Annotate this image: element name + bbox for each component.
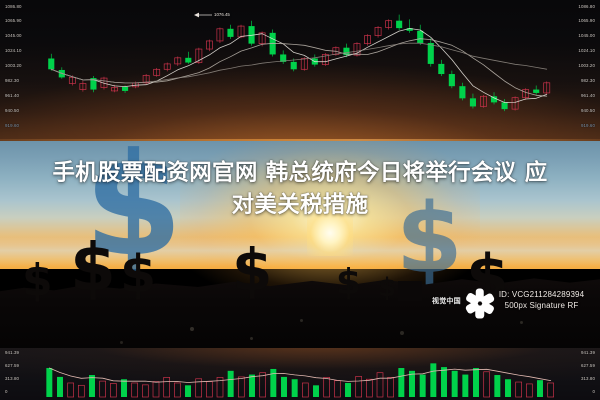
headline-line-1: 手机股票配资网官网 韩总统府今日将举行会议 应 [14, 158, 586, 190]
axis-label-left-0: 1086.80 [5, 4, 22, 9]
watermark-brand-label: 视觉中国 [432, 296, 461, 306]
watermark-text: ID: VCG211284289394 500px Signature RF [499, 290, 584, 311]
axis-label-right-0: 1086.80 [578, 4, 595, 9]
axis-label-left-6: 961.40 [5, 93, 19, 98]
axis-label-right-1: 1065.90 [578, 18, 595, 23]
candlestick-plot [0, 0, 600, 141]
volume-chart: 941.39 627.59 313.80 0 941.39 627.59 313… [0, 348, 600, 400]
vol-axis-label-left-1: 627.59 [5, 363, 19, 368]
vol-axis-label-right-3: 0 [592, 389, 595, 394]
vcg-starburst-icon [465, 286, 495, 316]
headline: 手机股票配资网官网 韩总统府今日将举行会议 应 对美关税措施 [0, 158, 600, 222]
briefcase-silhouette [398, 281, 422, 301]
vol-axis-label-right-0: 941.39 [581, 350, 595, 355]
bokeh-5 [120, 341, 123, 344]
dollar-sign-icon-3: $ [120, 249, 156, 301]
axis-label-left-2: 1045.00 [5, 33, 22, 38]
axis-label-right-6: 961.40 [581, 93, 595, 98]
axis-label-right-3: 1024.10 [578, 48, 595, 53]
dollar-sign-icon-4: $ [232, 241, 272, 299]
axis-label-right-7: 940.50 [581, 108, 595, 113]
axis-label-left-3: 1024.10 [5, 48, 22, 53]
bokeh-2 [250, 337, 253, 340]
price-annotation: 1076.45 [214, 12, 230, 17]
headline-line-2: 对美关税措施 [14, 190, 586, 222]
dollar-sign-icon-2: $ [70, 235, 116, 301]
axis-label-right-2: 1045.00 [578, 33, 595, 38]
vol-axis-label-right-2: 313.80 [581, 376, 595, 381]
dollar-sign-icon-5: $ [336, 265, 361, 301]
bokeh-6 [520, 321, 523, 324]
axis-label-right-8: 919.60 [581, 123, 595, 128]
candlestick-chart: 1076.45 1086.80 1065.90 1045.00 1024.10 … [0, 0, 600, 141]
dollar-sign-icon-6: $ [378, 275, 396, 301]
bokeh-4 [400, 331, 404, 335]
axis-label-right-4: 1003.20 [578, 63, 595, 68]
vol-axis-label-left-2: 313.80 [5, 376, 19, 381]
vol-axis-label-right-1: 627.59 [581, 363, 595, 368]
banner-image: 1076.45 1086.80 1065.90 1045.00 1024.10 … [0, 0, 600, 400]
axis-label-left-1: 1065.90 [5, 18, 22, 23]
volume-plot [0, 348, 600, 400]
axis-label-right-5: 982.30 [581, 78, 595, 83]
axis-label-left-8: 919.60 [5, 123, 19, 128]
axis-label-left-7: 940.50 [5, 108, 19, 113]
axis-label-left-5: 982.30 [5, 78, 19, 83]
dollar-sign-icon-1: $ [22, 259, 53, 303]
watermark: 视觉中国 ID: VCG211284289394 500px Signature… [432, 286, 584, 316]
watermark-id: ID: VCG211284289394 [499, 290, 584, 301]
axis-label-left-4: 1003.20 [5, 63, 22, 68]
bokeh-1 [190, 327, 194, 331]
vol-axis-label-left-0: 941.39 [5, 350, 19, 355]
watermark-license: 500px Signature RF [499, 301, 584, 312]
bokeh-3 [300, 319, 303, 322]
vol-axis-label-left-3: 0 [5, 389, 8, 394]
